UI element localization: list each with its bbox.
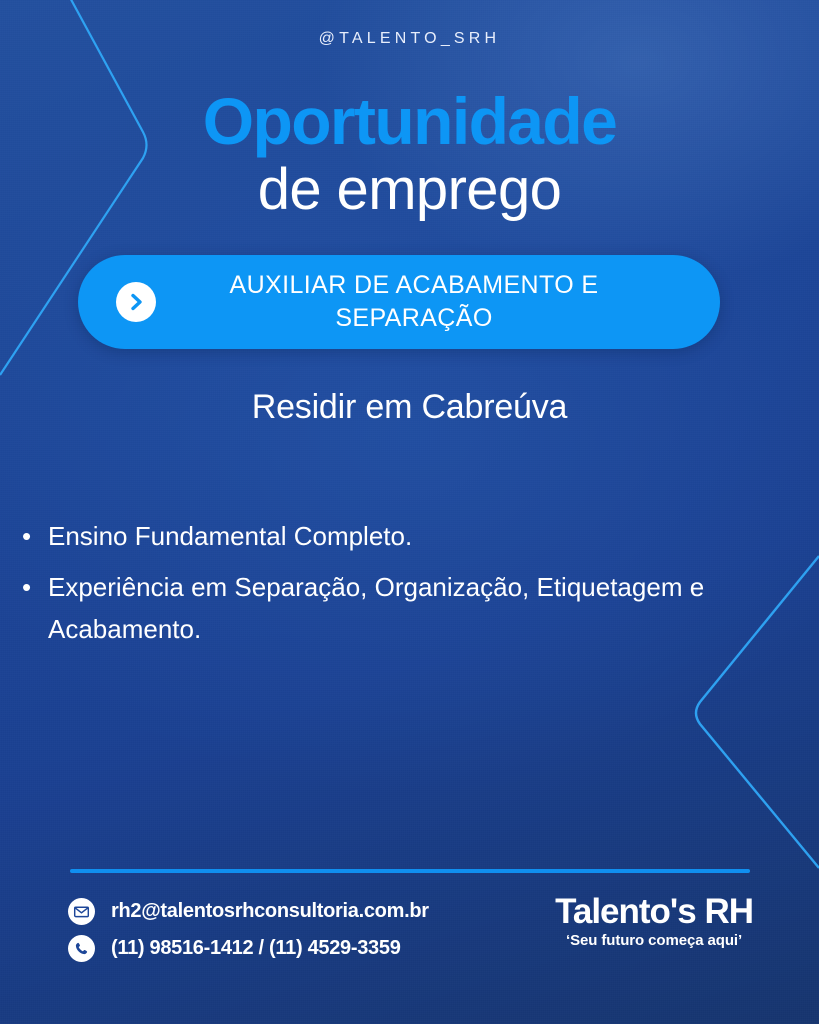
company-logo: Talento's RH ‘Seu futuro começa aqui’ (555, 893, 753, 949)
contact-info: rh2@talentosrhconsultoria.com.br (11) 98… (68, 895, 429, 969)
chevron-right-icon (116, 282, 156, 322)
page-title: Oportunidade de emprego (0, 88, 819, 219)
headline-line-secondary: de emprego (0, 161, 819, 219)
job-role-pill[interactable]: AUXILIAR DE ACABAMENTO E SEPARAÇÃO (78, 255, 720, 349)
account-handle: @TALENTO_SRH (0, 30, 819, 48)
contact-row-phone[interactable]: (11) 98516-1412 / (11) 4529-3359 (68, 932, 429, 965)
footer-divider (70, 869, 750, 873)
phone-icon (68, 935, 95, 962)
bullet-icon: • (22, 515, 48, 558)
list-item: • Experiência em Separação, Organização,… (22, 566, 722, 651)
contact-row-email[interactable]: rh2@talentosrhconsultoria.com.br (68, 895, 429, 928)
email-address: rh2@talentosrhconsultoria.com.br (111, 900, 429, 923)
phone-numbers: (11) 98516-1412 / (11) 4529-3359 (111, 937, 401, 960)
location-requirement: Residir em Cabreúva (0, 388, 819, 427)
job-posting-poster: @TALENTO_SRH Oportunidade de emprego AUX… (0, 0, 819, 1024)
bullet-icon: • (22, 566, 48, 609)
requirement-text: Experiência em Separação, Organização, E… (48, 566, 722, 651)
requirements-list: • Ensino Fundamental Completo. • Experiê… (22, 515, 722, 659)
company-name: Talento's RH (555, 893, 753, 930)
list-item: • Ensino Fundamental Completo. (22, 515, 722, 558)
headline-line-primary: Oportunidade (0, 88, 819, 154)
envelope-icon (68, 898, 95, 925)
company-tagline: ‘Seu futuro começa aqui’ (555, 932, 753, 949)
job-role-title: AUXILIAR DE ACABAMENTO E SEPARAÇÃO (156, 269, 694, 335)
requirement-text: Ensino Fundamental Completo. (48, 515, 722, 558)
